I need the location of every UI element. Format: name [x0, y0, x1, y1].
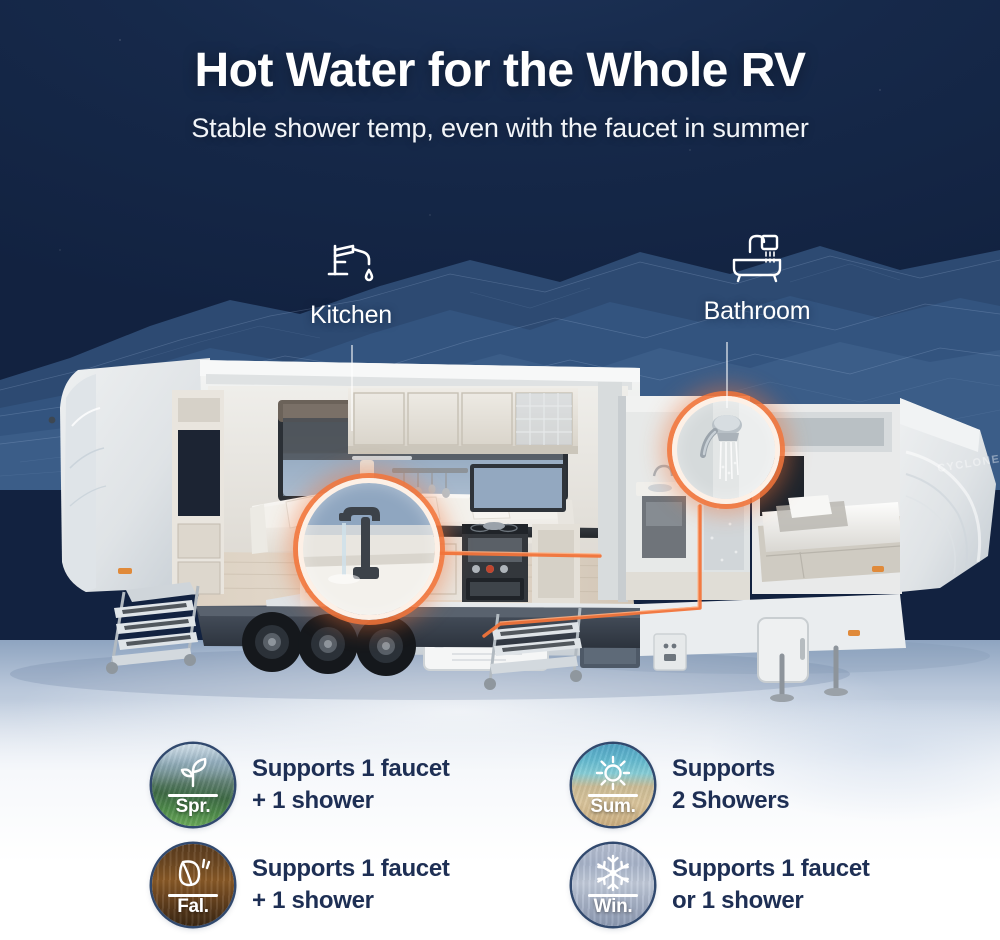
feature-text-spring: Supports 1 faucet + 1 shower	[252, 753, 450, 816]
feature-text-fall: Supports 1 faucet + 1 shower	[252, 853, 450, 916]
season-label: Win.	[572, 896, 654, 918]
feature-text-winter: Supports 1 faucet or 1 shower	[672, 853, 870, 916]
falling-leaf-icon	[152, 850, 234, 896]
callout-bathroom: Bathroom	[637, 228, 877, 326]
feature-item-summer: Sum. Supports 2 Showers	[572, 744, 789, 826]
season-badge-winter: Win.	[572, 844, 654, 926]
feature-line-1: Supports 1 faucet	[252, 853, 450, 885]
promo-banner: Hot Water for the Whole RV Stable shower…	[0, 0, 1000, 940]
feature-item-fall: Fal. Supports 1 faucet + 1 shower	[152, 844, 450, 926]
season-badge-spring: Spr.	[152, 744, 234, 826]
header-block: Hot Water for the Whole RV Stable shower…	[0, 46, 1000, 144]
feature-list: Spr. Supports 1 faucet + 1 shower	[0, 726, 1000, 940]
callout-bathroom-label: Bathroom	[704, 297, 811, 325]
snowflake-icon	[572, 850, 654, 896]
feature-line-2: 2 Showers	[672, 785, 789, 817]
feature-line-2: + 1 shower	[252, 785, 450, 817]
bathroom-leader-line	[726, 342, 728, 408]
feature-line-2: or 1 shower	[672, 885, 870, 917]
sun-icon	[572, 750, 654, 796]
bathtub-shower-icon	[637, 228, 877, 291]
feature-line-2: + 1 shower	[252, 885, 450, 917]
sprout-leaf-icon	[152, 750, 234, 796]
feature-item-winter: Win. Supports 1 faucet or 1 shower	[572, 844, 870, 926]
season-label: Fal.	[152, 896, 234, 918]
faucet-icon	[256, 234, 446, 295]
callout-kitchen: Kitchen	[256, 234, 446, 330]
season-label: Sum.	[572, 796, 654, 818]
page-title: Hot Water for the Whole RV	[0, 46, 1000, 96]
kitchen-leader-line	[351, 345, 353, 431]
callout-kitchen-label: Kitchen	[310, 301, 392, 329]
page-subtitle: Stable shower temp, even with the faucet…	[0, 113, 1000, 144]
feature-line-1: Supports 1 faucet	[252, 753, 450, 785]
kitchen-highlight-ring	[298, 478, 440, 620]
bathroom-highlight-ring	[672, 396, 780, 504]
feature-text-summer: Supports 2 Showers	[672, 753, 789, 816]
rv-cutaway-illustration: CYCLONE RV	[0, 356, 1000, 716]
season-label: Spr.	[152, 796, 234, 818]
wheels	[242, 612, 416, 676]
feature-line-1: Supports 1 faucet	[672, 853, 870, 885]
season-badge-fall: Fal.	[152, 844, 234, 926]
entry-steps-left	[106, 582, 198, 674]
feature-item-spring: Spr. Supports 1 faucet + 1 shower	[152, 744, 450, 826]
feature-line-1: Supports	[672, 753, 789, 785]
season-badge-summer: Sum.	[572, 744, 654, 826]
